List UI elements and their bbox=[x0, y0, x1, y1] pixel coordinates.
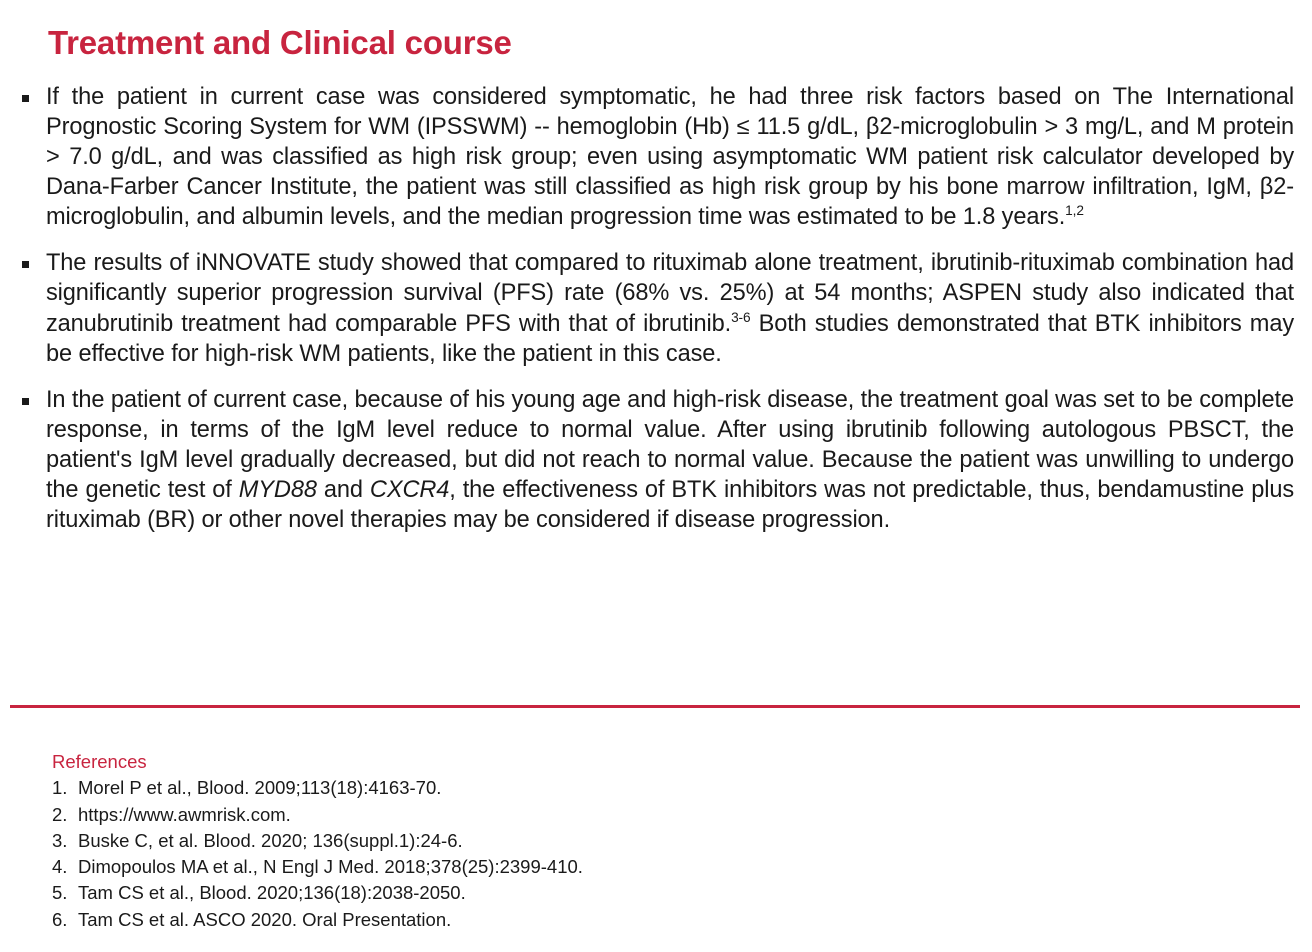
bullet-1-lead: If the patient in current case was consi… bbox=[46, 84, 1294, 230]
reference-item: 2. https://www.awmrisk.com. bbox=[52, 802, 952, 828]
list-item: The results of iNNOVATE study showed tha… bbox=[22, 248, 1294, 368]
reference-number: 4. bbox=[52, 854, 78, 880]
gene-name-cxcr4: CXCR4 bbox=[370, 477, 449, 503]
reference-item: 5. Tam CS et al., Blood. 2020;136(18):20… bbox=[52, 880, 952, 906]
list-item: If the patient in current case was consi… bbox=[22, 82, 1294, 232]
page-title: Treatment and Clinical course bbox=[48, 24, 512, 62]
references-heading: References bbox=[52, 750, 952, 774]
reference-number: 2. bbox=[52, 802, 78, 828]
gene-name-myd88: MYD88 bbox=[239, 477, 317, 503]
square-bullet-icon bbox=[22, 82, 46, 102]
bullet-list: If the patient in current case was consi… bbox=[22, 82, 1294, 551]
reference-number: 3. bbox=[52, 828, 78, 854]
bullet-1-superscript: 1,2 bbox=[1065, 203, 1084, 218]
reference-text: Buske C, et al. Blood. 2020; 136(suppl.1… bbox=[78, 828, 952, 854]
reference-item: 6. Tam CS et al. ASCO 2020. Oral Present… bbox=[52, 907, 952, 933]
bullet-paragraph-2: The results of iNNOVATE study showed tha… bbox=[46, 248, 1294, 368]
reference-number: 5. bbox=[52, 880, 78, 906]
square-bullet-icon bbox=[22, 248, 46, 268]
reference-text: Dimopoulos MA et al., N Engl J Med. 2018… bbox=[78, 854, 952, 880]
list-item: In the patient of current case, because … bbox=[22, 385, 1294, 535]
reference-number: 1. bbox=[52, 775, 78, 801]
slide-root: Treatment and Clinical course If the pat… bbox=[0, 0, 1312, 952]
reference-text: Tam CS et al. ASCO 2020. Oral Presentati… bbox=[78, 907, 952, 933]
reference-item: 1. Morel P et al., Blood. 2009;113(18):4… bbox=[52, 775, 952, 801]
reference-text: Morel P et al., Blood. 2009;113(18):4163… bbox=[78, 775, 952, 801]
bullet-3-mid: and bbox=[317, 477, 370, 503]
square-bullet-icon bbox=[22, 385, 46, 405]
reference-text: Tam CS et al., Blood. 2020;136(18):2038-… bbox=[78, 880, 952, 906]
reference-text: https://www.awmrisk.com. bbox=[78, 802, 952, 828]
reference-number: 6. bbox=[52, 907, 78, 933]
reference-item: 3. Buske C, et al. Blood. 2020; 136(supp… bbox=[52, 828, 952, 854]
references-section: References 1. Morel P et al., Blood. 200… bbox=[52, 750, 952, 933]
bullet-paragraph-3: In the patient of current case, because … bbox=[46, 385, 1294, 535]
bullet-2-superscript: 3-6 bbox=[731, 310, 750, 325]
reference-item: 4. Dimopoulos MA et al., N Engl J Med. 2… bbox=[52, 854, 952, 880]
bullet-paragraph-1: If the patient in current case was consi… bbox=[46, 82, 1294, 232]
section-divider bbox=[10, 705, 1300, 708]
